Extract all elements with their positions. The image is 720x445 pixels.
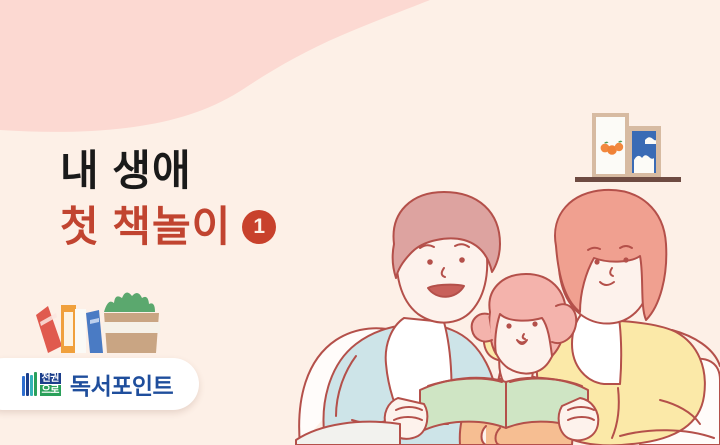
title-line-2: 첫 책놀이 [60,206,231,248]
reading-point-brand-badge[interactable]: 천권 으로 독서포인트 [0,358,199,410]
book-spines-icon [22,372,37,396]
cheongwoneuro-logo: 천권 으로 [22,372,61,396]
reading-point-promo-banner: 내 생애 첫 책놀이 1 천권 으로 독서포인트 [0,0,720,445]
logo-wordmark: 천권 으로 [40,373,61,396]
brand-name-label: 독서포인트 [70,367,173,401]
logo-word-bottom: 으로 [40,385,61,396]
title-line-2-row: 첫 책놀이 1 [60,206,276,248]
episode-number-badge: 1 [242,210,276,244]
logo-word-top: 천권 [40,373,61,384]
title-line-1: 내 생애 [60,150,276,192]
banner-title-block: 내 생애 첫 책놀이 1 [60,150,276,248]
